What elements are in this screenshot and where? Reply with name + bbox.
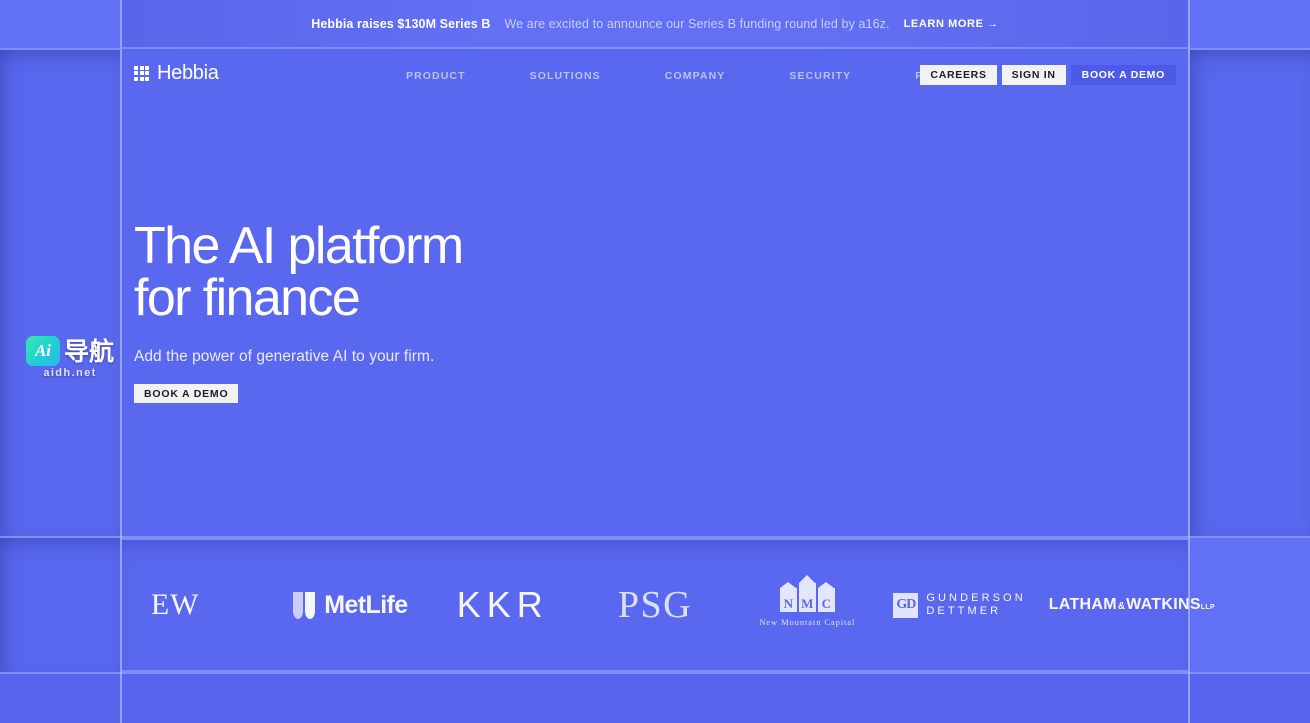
announcement-bar[interactable]: Hebbia raises $130M Series B We are exci… bbox=[122, 0, 1188, 49]
logo-edelman-partial: EW bbox=[122, 540, 274, 670]
latham-label: LATHAM bbox=[1049, 596, 1117, 614]
nav-item-product[interactable]: PRODUCT bbox=[374, 70, 498, 82]
book-a-demo-button-hero[interactable]: BOOK A DEMO bbox=[134, 384, 238, 403]
sign-in-button[interactable]: SIGN IN bbox=[1002, 65, 1066, 85]
logo-metlife: MetLife bbox=[274, 540, 426, 670]
bg-cell bbox=[0, 674, 120, 723]
grid-icon bbox=[134, 66, 149, 81]
bg-cell bbox=[1190, 0, 1310, 48]
bg-cell bbox=[1190, 674, 1310, 723]
metlife-label: MetLife bbox=[324, 591, 407, 620]
logo-kkr: KKR bbox=[427, 540, 579, 670]
brand-logo[interactable]: Hebbia bbox=[134, 63, 219, 83]
logo-new-mountain-capital: N M C New Mountain Capital bbox=[731, 540, 883, 670]
gunderson-line1: GUNDERSON bbox=[926, 592, 1025, 605]
grid-seam bbox=[1190, 48, 1310, 50]
nav-item-company[interactable]: COMPANY bbox=[633, 70, 758, 82]
hero-subheadline: Add the power of generative AI to your f… bbox=[134, 348, 1188, 366]
nmc-letter-c: C bbox=[818, 588, 835, 612]
main-navbar: Hebbia PRODUCT SOLUTIONS COMPANY SECURIT… bbox=[122, 49, 1188, 105]
bg-cell bbox=[0, 0, 120, 48]
nmc-peaks-icon: N M C bbox=[780, 583, 835, 612]
announcement-headline: Hebbia raises $130M Series B bbox=[311, 17, 490, 31]
grid-seam bbox=[1188, 0, 1190, 723]
metlife-m-icon bbox=[293, 592, 315, 619]
latham-ampersand: & bbox=[1117, 601, 1126, 612]
bg-cell bbox=[0, 50, 120, 536]
customer-logo-strip: EW MetLife KKR PSG N M C bbox=[122, 538, 1188, 672]
bg-cell bbox=[0, 538, 120, 672]
site-column: Hebbia raises $130M Series B We are exci… bbox=[122, 0, 1188, 723]
latham-llp-suffix: LLP bbox=[1201, 604, 1215, 611]
logo-psg: PSG bbox=[579, 540, 731, 670]
page-title: The AI platform for finance bbox=[134, 220, 1188, 324]
logo-gunderson-dettmer: GD GUNDERSON DETTMER bbox=[883, 540, 1035, 670]
nav-item-security[interactable]: SECURITY bbox=[757, 70, 883, 82]
logo-latham-watkins: LATHAM & WATKINS LLP bbox=[1036, 540, 1188, 670]
announcement-learn-more-link[interactable]: LEARN MORE → bbox=[904, 18, 999, 30]
nmc-letter-m: M bbox=[799, 583, 816, 612]
hero-section: The AI platform for finance Add the powe… bbox=[122, 105, 1188, 536]
gd-monogram-icon: GD bbox=[893, 593, 918, 618]
grid-seam bbox=[0, 48, 120, 50]
nmc-label: New Mountain Capital bbox=[759, 617, 855, 627]
page-root: Hebbia raises $130M Series B We are exci… bbox=[0, 0, 1310, 723]
brand-name: Hebbia bbox=[157, 63, 219, 83]
book-a-demo-button-nav[interactable]: BOOK A DEMO bbox=[1071, 65, 1176, 85]
announcement-body: We are excited to announce our Series B … bbox=[505, 17, 890, 31]
nmc-letter-n: N bbox=[780, 588, 797, 612]
bg-cell bbox=[1190, 50, 1310, 536]
careers-button[interactable]: CAREERS bbox=[920, 65, 996, 85]
nav-actions: CAREERS SIGN IN BOOK A DEMO bbox=[920, 65, 1176, 85]
gunderson-line2: DETTMER bbox=[926, 605, 1025, 618]
nav-links: PRODUCT SOLUTIONS COMPANY SECURITY PRICI… bbox=[374, 70, 999, 82]
hero-headline-line1: The AI platform bbox=[134, 217, 463, 275]
nav-item-solutions[interactable]: SOLUTIONS bbox=[498, 70, 633, 82]
watkins-label: WATKINS bbox=[1126, 596, 1201, 614]
hero-headline-line2: for finance bbox=[134, 269, 359, 327]
